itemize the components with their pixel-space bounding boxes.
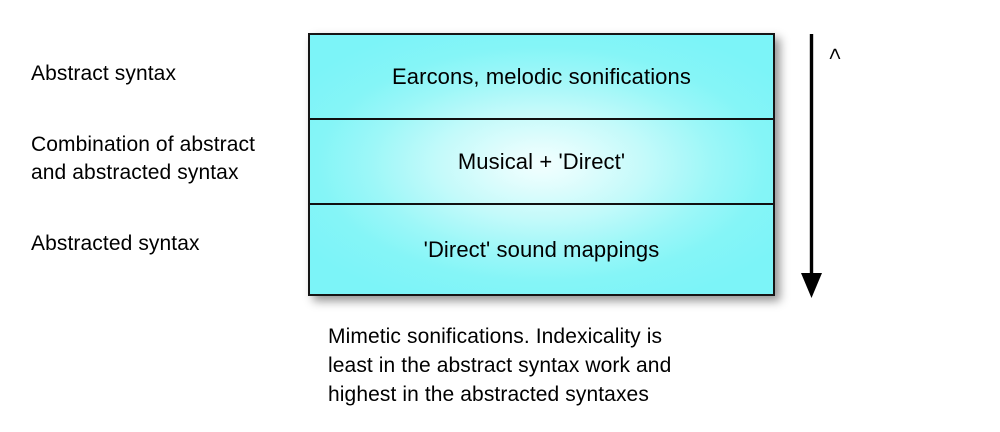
indexicality-axis: > Indexicality < [795,30,875,305]
stack-row-label-direct-sound-mappings: 'Direct' sound mappings [424,237,660,263]
row-label-abstracted-syntax: Abstracted syntax [31,230,200,258]
diagram-caption: Mimetic sonifications. Indexicality is l… [328,322,758,409]
mimetic-sonification-diagram: Abstract syntax Combination of abstract … [0,0,1000,432]
syntax-stack-box: Earcons, melodic sonifications Musical +… [308,33,775,296]
stack-row: 'Direct' sound mappings [310,205,773,294]
row-label-combination-syntax: Combination of abstract and abstracted s… [31,131,255,187]
stack-row-label-musical-direct: Musical + 'Direct' [458,149,625,175]
stack-row: Earcons, melodic sonifications [310,35,773,120]
stack-row-label-earcons: Earcons, melodic sonifications [392,64,691,90]
stack-row: Musical + 'Direct' [310,120,773,205]
down-arrow-icon [795,30,875,305]
row-label-abstract-syntax: Abstract syntax [31,60,176,88]
